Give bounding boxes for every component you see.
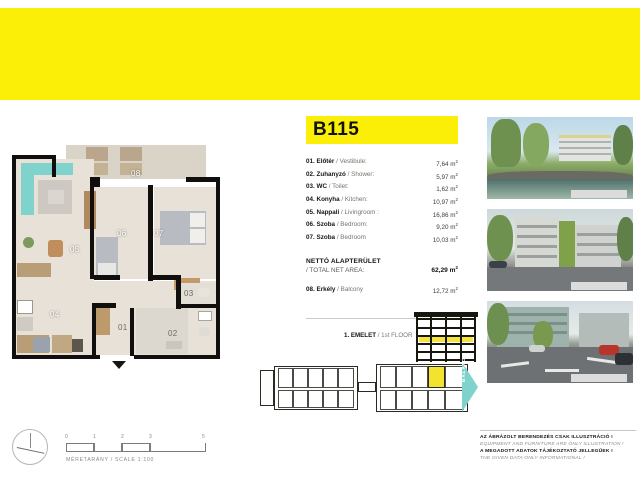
table-row: 01. Előtér / Vestibule: 7,64 m2: [306, 157, 458, 170]
room-name-en: / Vestibule:: [336, 158, 367, 165]
vestibule-cabinet: [96, 305, 110, 335]
balcony-furniture: [120, 147, 142, 161]
car: [529, 345, 545, 352]
disclaimer-block: AZ ÁBRÁZOLT BERENDEZÉS CSAK ILLUSZTRÁCIÓ…: [480, 430, 636, 462]
key-plan-stairs: [260, 370, 274, 406]
unit-code-banner: B115: [306, 116, 458, 144]
interior-wall: [94, 303, 116, 308]
render-facade[interactable]: [487, 209, 633, 291]
room-number: 01.: [306, 158, 315, 165]
room-area: 10,03: [433, 237, 449, 244]
sofa: [21, 163, 34, 215]
room-number: 07.: [306, 234, 315, 241]
net-area-block: NETTÓ ALAPTERÜLET / TOTAL NET AREA: 62,2…: [306, 258, 458, 274]
plan-room-number-07: 07: [154, 229, 164, 238]
plan-room-number-01: 01: [118, 323, 128, 332]
render-lakeside[interactable]: [487, 117, 633, 199]
table-row: 04. Konyha / Kitchen: 10,97 m2: [306, 195, 458, 208]
scale-tick: 1: [93, 434, 96, 440]
pillow: [190, 229, 205, 243]
room-name-hu: Szoba: [317, 221, 336, 228]
room-name-en: / Bedroom: [337, 234, 366, 241]
interior-wall: [148, 185, 153, 281]
room-area: 5,97: [436, 174, 448, 181]
plan-room-number-04: 04: [50, 310, 60, 319]
room-number: 02.: [306, 171, 315, 178]
scale-tick: 3: [149, 434, 152, 440]
room-name-hu: Szoba: [317, 234, 336, 241]
room-area: 7,64: [436, 161, 448, 168]
interior-wall: [92, 303, 96, 355]
appliance: [17, 317, 33, 331]
tree: [487, 215, 513, 261]
render-gallery: [487, 117, 633, 383]
room-name-hu: Zuhanyzó: [317, 171, 346, 178]
plant: [23, 237, 34, 248]
divider: [480, 430, 636, 431]
interior-wall: [130, 308, 134, 356]
unit-code: B115: [313, 119, 359, 141]
interior-wall: [94, 275, 120, 280]
bathtub: [166, 341, 182, 349]
room-schedule-table: 01. Előtér / Vestibule: 7,64 m2 02. Zuha…: [306, 157, 458, 246]
scale-bar: 0 1 2 3 5: [66, 443, 206, 452]
net-area-label-en: / TOTAL NET AREA:: [306, 267, 364, 274]
scale-tick: 5: [202, 434, 205, 440]
table-row: 02. Zuhanyzó / Shower: 5,97 m2: [306, 170, 458, 183]
room-name-en: / Livingroom :: [341, 209, 379, 216]
room-number: 06.: [306, 221, 315, 228]
balcony-name-en: / Balcony: [337, 286, 363, 293]
room-name-en: / Bedroom:: [337, 221, 368, 228]
wall-pier: [52, 155, 56, 177]
exterior-wall: [134, 355, 220, 359]
exterior-wall: [12, 155, 56, 159]
room-area: 10,97: [433, 199, 449, 206]
building-wing: [575, 225, 621, 267]
floor-plan-drawing: 08 05 04 0: [8, 145, 236, 378]
balcony-area: 12,72: [433, 288, 449, 295]
scale-bar-group: 0 1 2 3 5 MÉRETARÁNY / SCALE 1:100: [8, 425, 218, 473]
room-name-en: / Shower:: [348, 171, 375, 178]
entrance-arrow-icon: [112, 361, 126, 369]
header-banner: [0, 8, 640, 100]
room-name-en: / Toilet:: [329, 183, 349, 190]
car: [615, 353, 633, 365]
green-facade-accent: [559, 221, 575, 267]
north-arrow-icon: [12, 429, 48, 465]
key-plan-corridor: [358, 382, 376, 392]
photo-caption-bar: [571, 374, 627, 382]
direction-marker-balaton: BALATON: [462, 362, 478, 412]
scale-label: MÉRETARÁNY / SCALE 1:100: [66, 457, 154, 463]
photo-caption-bar: [571, 282, 627, 290]
table-row: 05. Nappali / Livingroom : 16,86 m2: [306, 208, 458, 221]
disclaimer-line-hu-2: A MEGADOTT ADATOK TÁJÉKOZTATÓ JELLEGŰEK …: [480, 448, 636, 455]
plan-room-number-02: 02: [168, 329, 178, 338]
armchair: [48, 240, 63, 257]
key-plan-highlighted-unit[interactable]: [428, 366, 445, 388]
room-name-hu: Konyha: [317, 196, 340, 203]
room-name-hu: Nappali: [317, 209, 340, 216]
disclaimer-line-en-2: THE GIVEN DATA ONLY INFORMATIONAL !: [480, 455, 636, 462]
scale-tick: 0: [65, 434, 68, 440]
key-plan: [256, 358, 471, 416]
balcony-row: 08. Erkély / Balcony 12,72 m2: [306, 286, 458, 295]
unit-info-panel: B115 01. Előtér / Vestibule: 7,64 m2 02.…: [306, 116, 466, 295]
tree: [491, 119, 521, 167]
plan-room-number-05: 05: [70, 245, 80, 254]
floor-label-hu: 1. EMELET: [344, 332, 376, 339]
room-area: 9,20: [436, 225, 448, 232]
interior-wall: [90, 187, 94, 279]
appliance: [72, 339, 83, 352]
road-marking: [545, 369, 579, 372]
sink: [17, 300, 33, 314]
toilet-fixture: [198, 288, 210, 297]
tree: [613, 125, 633, 165]
exterior-wall: [12, 155, 16, 359]
car: [489, 261, 507, 268]
building-section-diagram: [416, 316, 476, 362]
tree: [523, 123, 549, 165]
tree: [487, 303, 509, 345]
room-name-hu: Előtér: [317, 158, 335, 165]
balcony-number: 08.: [306, 286, 315, 293]
pillow: [190, 213, 205, 227]
plan-sheet: 08 05 04 0: [0, 0, 640, 480]
room-area: 1,62: [436, 186, 448, 193]
exterior-wall: [186, 177, 220, 182]
net-area-value: 62,29: [431, 267, 448, 274]
coffee-table: [48, 190, 64, 204]
disclaimer-line-hu-1: AZ ÁBRÁZOLT BERENDEZÉS CSAK ILLUSZTRÁCIÓ…: [480, 434, 636, 441]
toilet-fixture: [199, 327, 210, 336]
floor-label-en: / 1st FLOOR: [378, 332, 413, 339]
photo-caption-bar: [571, 190, 627, 198]
room-number: 05.: [306, 209, 315, 216]
washbasin: [198, 311, 212, 321]
plan-room-number-06: 06: [117, 229, 127, 238]
room-name-en: / Kitchen:: [341, 196, 367, 203]
net-area-label-hu: NETTÓ ALAPTERÜLET: [306, 258, 458, 265]
render-street[interactable]: [487, 301, 633, 383]
table-row: 06. Szoba / Bedroom: 9,20 m2: [306, 220, 458, 233]
room-number: 03.: [306, 183, 315, 190]
table-row: 07. Szoba / Bedroom 10,03 m2: [306, 233, 458, 246]
scale-tick: 2: [121, 434, 124, 440]
table-row: 03. WC / Toilet: 1,62 m2: [306, 182, 458, 195]
room-number: 04.: [306, 196, 315, 203]
exterior-wall: [216, 181, 220, 359]
room-area: 16,86: [433, 212, 449, 219]
appliance: [33, 337, 50, 352]
floor-indicator: 1. EMELET / 1st FLOOR: [344, 332, 412, 339]
plan-room-number-08: 08: [131, 169, 141, 178]
tree: [617, 217, 633, 261]
direction-label: BALATON: [461, 348, 466, 382]
plan-room-number-03: 03: [184, 289, 194, 298]
cabinet: [52, 335, 72, 353]
interior-wall: [176, 304, 220, 308]
building-wing: [579, 313, 629, 347]
kitchen-counter: [17, 263, 51, 277]
floor-plan: 08 05 04 0: [8, 145, 236, 385]
exterior-wall: [12, 355, 100, 359]
wall-pier: [90, 177, 100, 187]
room-name-hu: WC: [317, 183, 328, 190]
disclaimer-line-en-1: EQUIPMENT AND FURNITURE ARE ONLY ILLUSTR…: [480, 441, 636, 448]
balcony-name-hu: Erkély: [317, 286, 336, 293]
